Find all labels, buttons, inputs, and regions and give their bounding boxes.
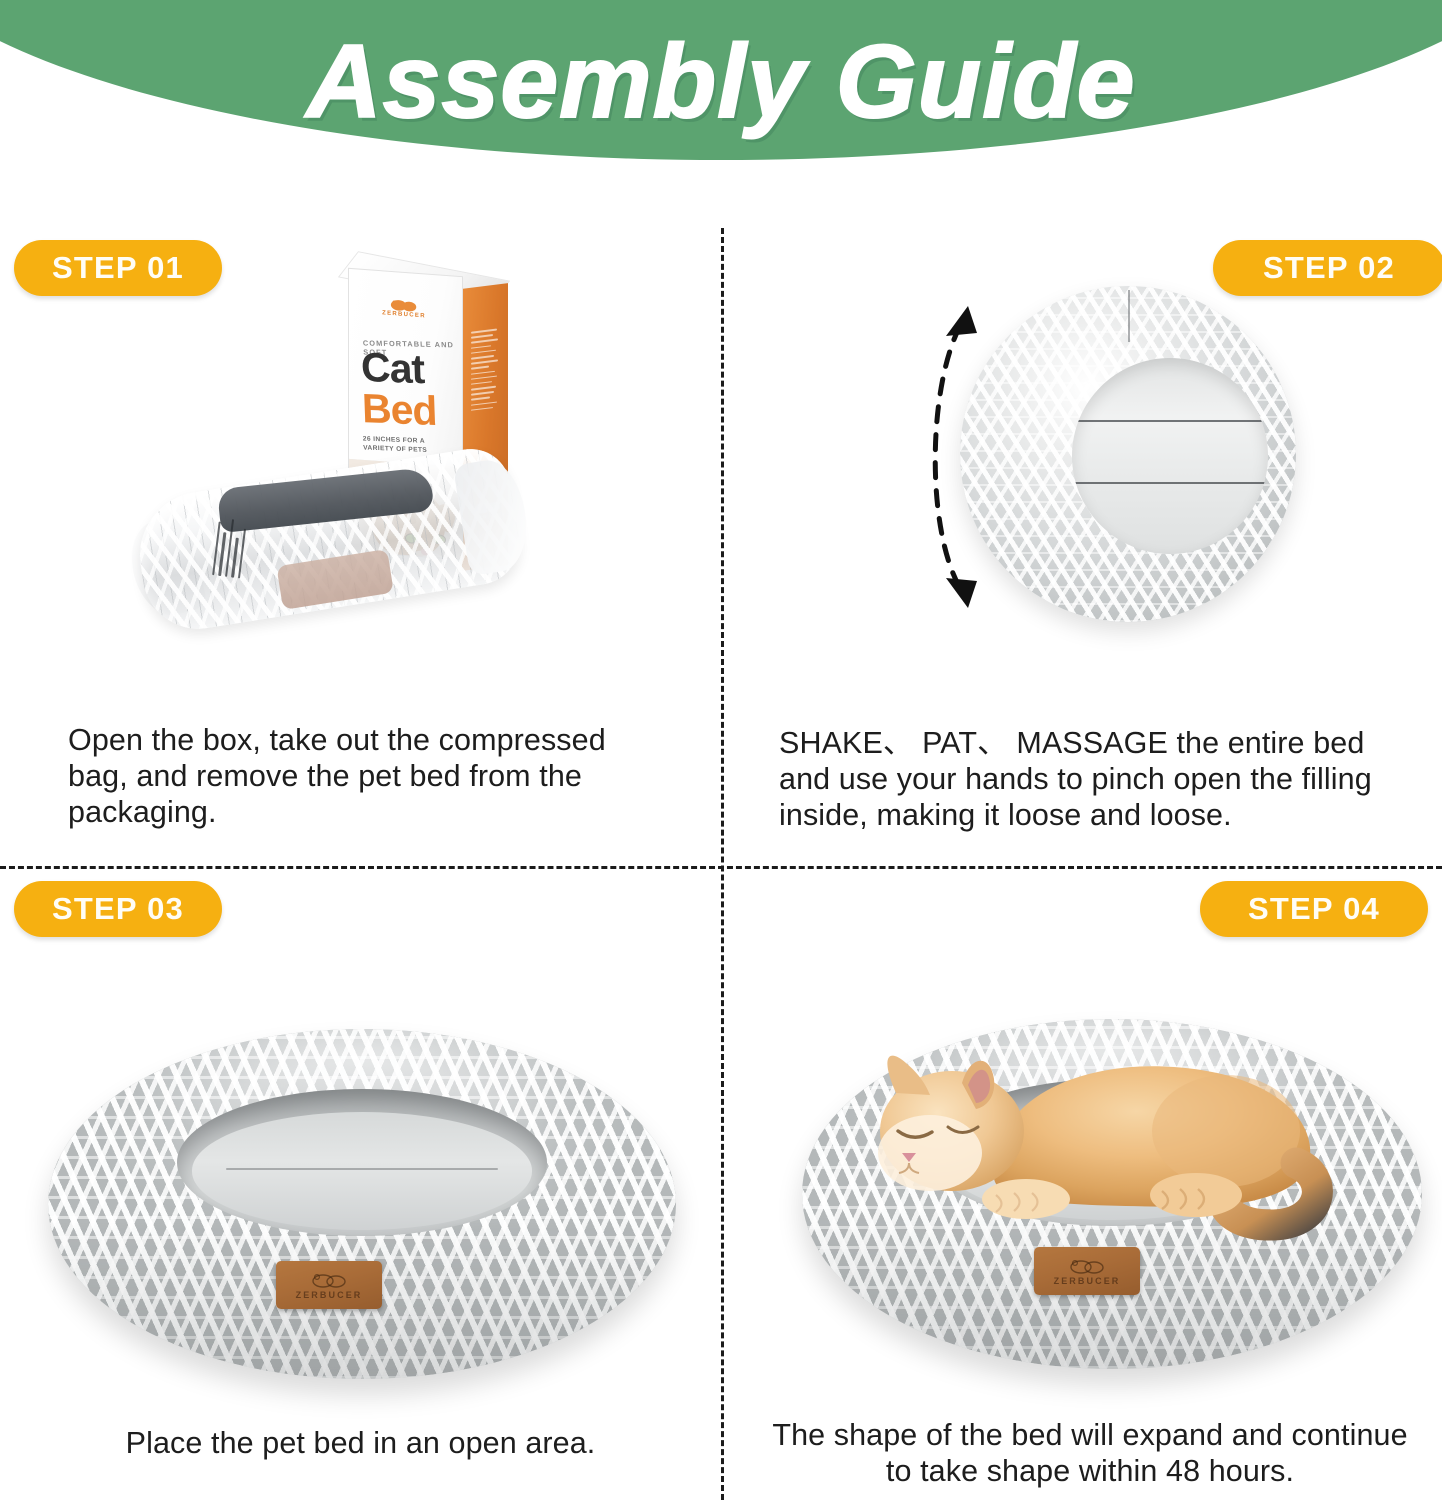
header-banner: Assembly Guide xyxy=(0,0,1442,175)
cat-ear-left xyxy=(887,1056,930,1095)
pet-bed: ZERBUCER xyxy=(802,1019,1422,1369)
sleeping-cat xyxy=(844,1027,1364,1257)
bolster-seam xyxy=(1128,290,1130,342)
bag-warning-label xyxy=(212,512,323,588)
bed-top-view-bolster xyxy=(960,286,1296,622)
step-04-illustration: ZERBUCER xyxy=(802,1019,1422,1369)
brand-tag-label: ZERBUCER xyxy=(1054,1276,1121,1286)
step-04-caption: The shape of the bed will expand and con… xyxy=(770,1417,1410,1489)
cat-hind-paw xyxy=(1150,1173,1242,1217)
brand-tag-label: ZERBUCER xyxy=(296,1290,363,1300)
step-01-caption: Open the box, take out the compressed ba… xyxy=(68,722,668,830)
step-01-illustration: ZERBUCER ZERBUCER COMFORTABLE AND SOFT C… xyxy=(120,246,640,696)
step-panel-02: STEP 02 SHAKE、 PAT、 MASSAGE the entire b… xyxy=(724,228,1442,866)
bed-inner-cushion xyxy=(1072,358,1268,554)
cushion-seam-bottom xyxy=(1072,482,1268,484)
step-02-illustration xyxy=(920,286,1310,656)
bed-cushion-well xyxy=(177,1089,548,1236)
step-panel-04: STEP 04 xyxy=(724,869,1442,1500)
cat-muzzle xyxy=(878,1115,982,1191)
step-02-caption: SHAKE、 PAT、 MASSAGE the entire bed and u… xyxy=(779,725,1409,833)
box-product-name-line1: Cat xyxy=(360,347,424,390)
pet-bed: ZERBUCER xyxy=(48,1029,676,1379)
cushion-seam xyxy=(226,1168,499,1170)
step-badge-04: STEP 04 xyxy=(1200,881,1428,937)
step-panel-03: STEP 03 ZERBUC xyxy=(0,869,721,1500)
box-product-name-line2: Bed xyxy=(361,388,437,431)
brand-pets-icon xyxy=(1065,1257,1109,1274)
page-title: Assembly Guide xyxy=(0,28,1442,136)
cat-front-paw xyxy=(982,1179,1070,1219)
step-badge-03: STEP 03 xyxy=(14,881,222,937)
bed-cushion-pad xyxy=(192,1112,533,1230)
cat-haunch xyxy=(1152,1075,1300,1187)
step-03-caption: Place the pet bed in an open area. xyxy=(0,1425,721,1461)
brand-leather-tag: ZERBUCER xyxy=(1034,1247,1140,1295)
brand-pets-icon xyxy=(307,1271,351,1288)
step-03-illustration: ZERBUCER xyxy=(48,1029,676,1379)
box-brand-logo: ZERBUCER xyxy=(368,292,440,323)
brand-leather-tag: ZERBUCER xyxy=(276,1261,382,1309)
assembly-guide-page: Assembly Guide STEP 01 xyxy=(0,0,1442,1500)
step-panel-01: STEP 01 xyxy=(0,228,721,866)
cushion-seam-top xyxy=(1072,420,1268,422)
compressed-vacuum-bag xyxy=(128,430,529,665)
